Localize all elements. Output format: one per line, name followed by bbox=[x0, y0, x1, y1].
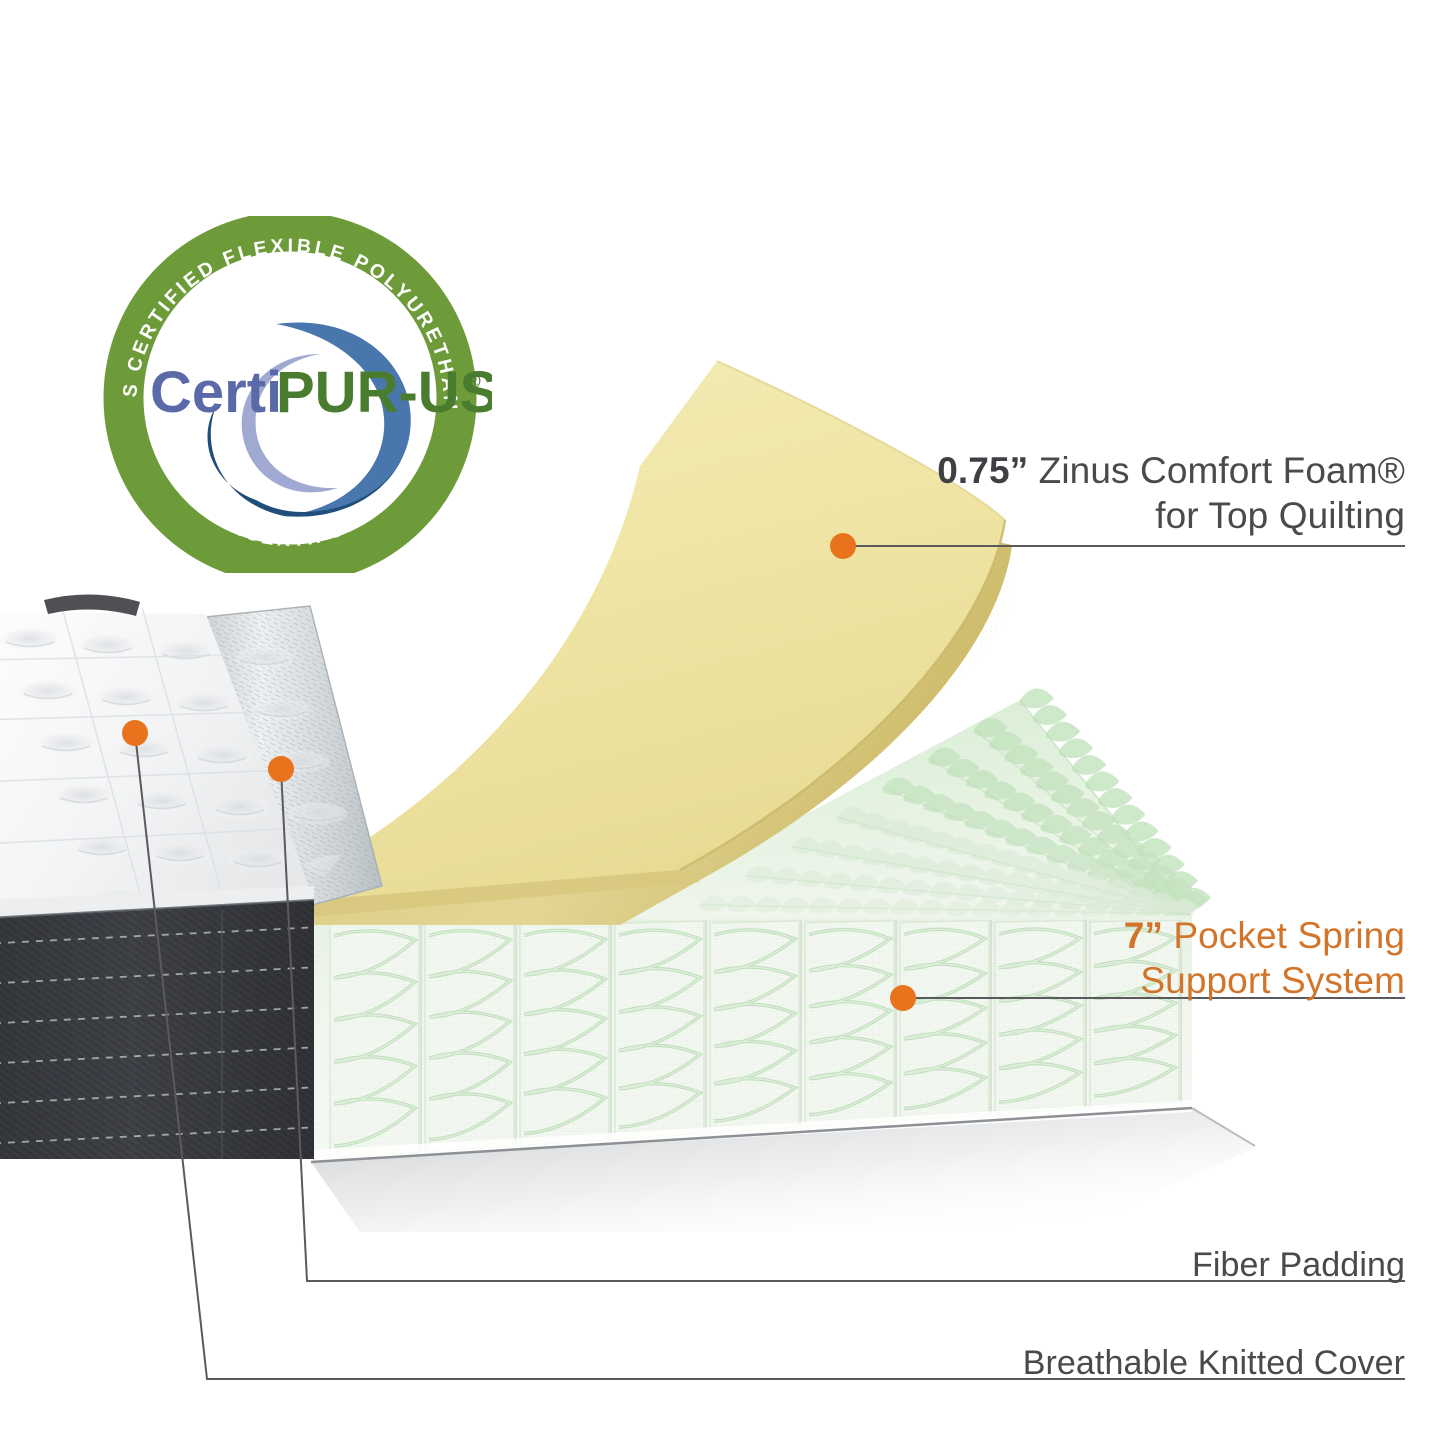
wordmark-certi: Certi bbox=[150, 360, 282, 425]
mattress-side-panel bbox=[0, 900, 320, 1159]
badge-wordmark: Certi PUR-US ® bbox=[150, 360, 492, 425]
fiber-padding-text: Fiber Padding bbox=[1192, 1245, 1405, 1286]
knitted-cover-text: Breathable Knitted Cover bbox=[1023, 1343, 1405, 1384]
wordmark-registered-mark: ® bbox=[466, 371, 481, 393]
certipur-us-seal-icon: CONTAINS CERTIFIED FLEXIBLE POLYURETHANE… bbox=[88, 216, 492, 573]
certipur-us-badge: CONTAINS CERTIFIED FLEXIBLE POLYURETHANE… bbox=[88, 216, 492, 573]
callout-label-pocket-spring: 7” Pocket Spring Support System bbox=[1124, 913, 1405, 1003]
callout-label-fiber-padding: Fiber Padding bbox=[1192, 1245, 1405, 1286]
wordmark-pur-us: PUR-US bbox=[276, 360, 492, 425]
callout-label-knitted-cover: Breathable Knitted Cover bbox=[1023, 1343, 1405, 1384]
pocket-spring-line1: Pocket Spring bbox=[1163, 915, 1405, 956]
pocket-spring-measure: 7” bbox=[1124, 915, 1163, 956]
callout-label-comfort-foam: 0.75” Zinus Comfort Foam® for Top Quilti… bbox=[937, 448, 1405, 538]
pocket-spring-line2: Support System bbox=[1124, 958, 1405, 1003]
comfort-foam-measure: 0.75” bbox=[937, 450, 1028, 491]
comfort-foam-line2: for Top Quilting bbox=[937, 493, 1405, 538]
comfort-foam-line1: Zinus Comfort Foam® bbox=[1028, 450, 1405, 491]
product-cutaway-illustration: CONTAINS CERTIFIED FLEXIBLE POLYURETHANE… bbox=[0, 0, 1445, 1445]
